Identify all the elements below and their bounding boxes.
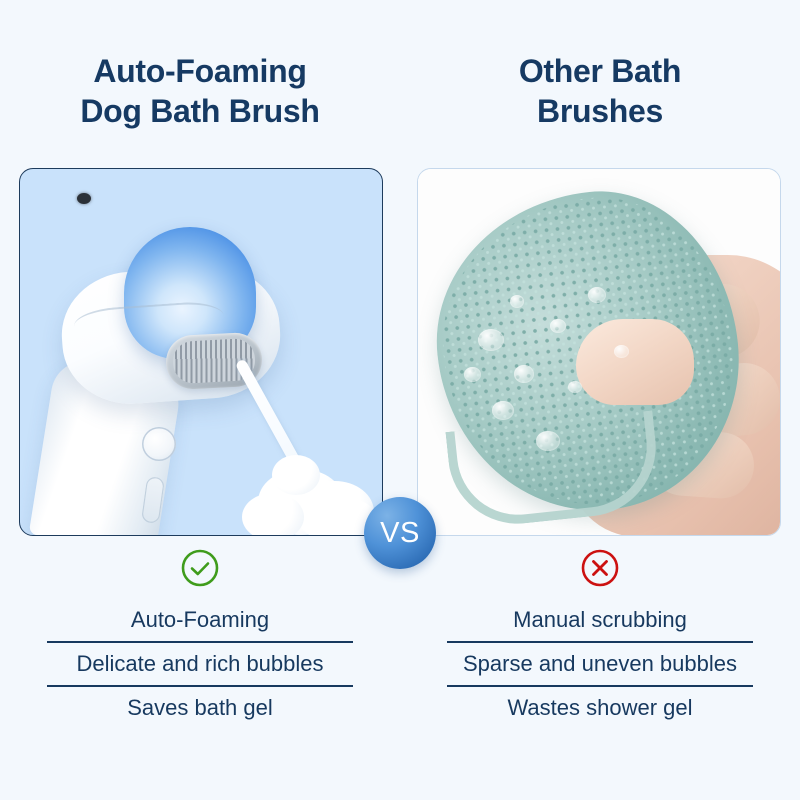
foam-mound xyxy=(242,493,304,536)
left-feature-column: Auto-Foaming Delicate and rich bubbles S… xyxy=(0,548,400,800)
headings-row: Auto-Foaming Dog Bath Brush Other Bath B… xyxy=(0,0,800,160)
soap-bubble xyxy=(478,329,504,351)
auto-foaming-brush-illustration xyxy=(20,169,382,535)
right-feature-1: Manual scrubbing xyxy=(447,602,753,638)
versus-label: VS xyxy=(380,519,420,548)
right-heading: Other Bath Brushes xyxy=(400,0,800,160)
soap-bubble xyxy=(514,365,534,383)
feature-divider xyxy=(447,685,753,687)
left-heading-line-1: Auto-Foaming xyxy=(93,51,306,91)
comparison-infographic: Auto-Foaming Dog Bath Brush Other Bath B… xyxy=(0,0,800,800)
right-feature-list: Manual scrubbing Sparse and uneven bubbl… xyxy=(447,602,753,726)
right-feature-3: Wastes shower gel xyxy=(447,690,753,726)
right-heading-line-1: Other Bath xyxy=(519,51,681,91)
left-product-image-panel xyxy=(19,168,383,536)
foam-mound xyxy=(272,455,320,495)
panels-row: VS xyxy=(0,168,800,538)
versus-badge: VS xyxy=(364,497,436,569)
feature-divider xyxy=(47,641,353,643)
silicone-brush-illustration xyxy=(418,169,780,535)
soap-bubble xyxy=(614,345,629,358)
left-feature-3: Saves bath gel xyxy=(47,690,353,726)
nozzle-outlet-hole xyxy=(77,193,91,204)
soap-bubble xyxy=(536,431,560,451)
feature-divider xyxy=(447,641,753,643)
thumb xyxy=(576,319,694,405)
soap-bubble xyxy=(510,295,524,308)
left-feature-2: Delicate and rich bubbles xyxy=(47,646,353,682)
left-heading-line-2: Dog Bath Brush xyxy=(80,91,319,131)
left-feature-list: Auto-Foaming Delicate and rich bubbles S… xyxy=(47,602,353,726)
soap-bubble xyxy=(492,401,514,420)
soap-bubble xyxy=(550,319,566,333)
features-row: Auto-Foaming Delicate and rich bubbles S… xyxy=(0,548,800,800)
left-heading: Auto-Foaming Dog Bath Brush xyxy=(0,0,400,160)
right-product-image-panel xyxy=(417,168,781,536)
right-heading-line-2: Brushes xyxy=(537,91,663,131)
right-feature-column: Manual scrubbing Sparse and uneven bubbl… xyxy=(400,548,800,800)
feature-divider xyxy=(47,685,353,687)
soap-bubble xyxy=(588,287,606,303)
check-circle-icon xyxy=(180,548,220,588)
x-circle-icon xyxy=(580,548,620,588)
soap-bubble xyxy=(568,381,582,393)
right-feature-2: Sparse and uneven bubbles xyxy=(447,646,753,682)
soap-bubble xyxy=(464,367,481,382)
left-feature-1: Auto-Foaming xyxy=(47,602,353,638)
brush-power-button xyxy=(142,427,176,461)
